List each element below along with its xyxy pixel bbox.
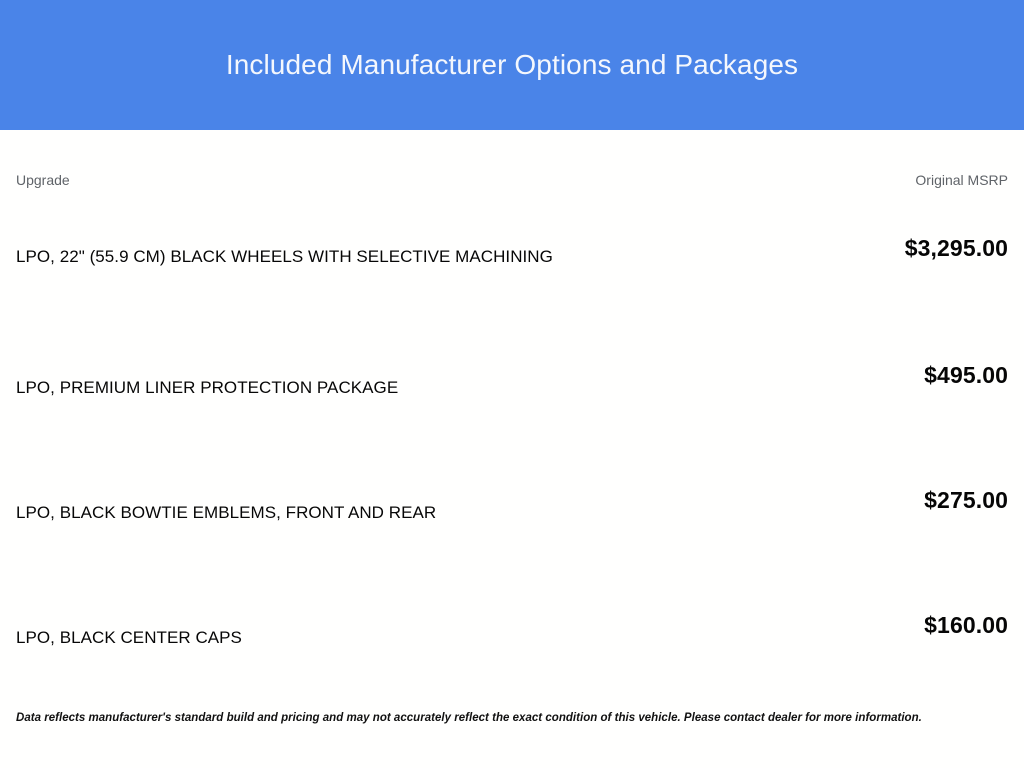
upgrade-price: $3,295.00 <box>696 188 1008 326</box>
table-body: LPO, 22" (55.9 CM) BLACK WHEELS WITH SEL… <box>16 188 1008 701</box>
column-header-upgrade: Upgrade <box>16 130 696 188</box>
table-row: LPO, PREMIUM LINER PROTECTION PACKAGE $4… <box>16 326 1008 451</box>
table-row: LPO, BLACK BOWTIE EMBLEMS, FRONT AND REA… <box>16 451 1008 576</box>
upgrade-name: LPO, PREMIUM LINER PROTECTION PACKAGE <box>16 326 696 451</box>
price-value: $495.00 <box>924 362 1008 389</box>
options-table-container: Upgrade Original MSRP LPO, 22" (55.9 CM)… <box>0 130 1024 768</box>
column-header-original-msrp: Original MSRP <box>696 130 1008 188</box>
options-and-packages-page: Included Manufacturer Options and Packag… <box>0 0 1024 768</box>
page-title: Included Manufacturer Options and Packag… <box>226 48 798 82</box>
upgrade-name: LPO, BLACK BOWTIE EMBLEMS, FRONT AND REA… <box>16 451 696 576</box>
upgrade-name: LPO, 22" (55.9 CM) BLACK WHEELS WITH SEL… <box>16 188 696 326</box>
options-table: Upgrade Original MSRP LPO, 22" (55.9 CM)… <box>16 130 1008 701</box>
table-header-row: Upgrade Original MSRP <box>16 130 1008 188</box>
table-header: Upgrade Original MSRP <box>16 130 1008 188</box>
price-value: $160.00 <box>924 612 1008 639</box>
price-value: $275.00 <box>924 487 1008 514</box>
upgrade-price: $275.00 <box>696 451 1008 576</box>
disclaimer-text: Data reflects manufacturer's standard bu… <box>16 711 996 726</box>
upgrade-name: LPO, BLACK CENTER CAPS <box>16 576 696 701</box>
page-header-banner: Included Manufacturer Options and Packag… <box>0 0 1024 130</box>
table-row: LPO, BLACK CENTER CAPS $160.00 <box>16 576 1008 701</box>
upgrade-price: $495.00 <box>696 326 1008 451</box>
upgrade-price: $160.00 <box>696 576 1008 701</box>
price-value: $3,295.00 <box>905 235 1008 262</box>
table-row: LPO, 22" (55.9 CM) BLACK WHEELS WITH SEL… <box>16 188 1008 326</box>
